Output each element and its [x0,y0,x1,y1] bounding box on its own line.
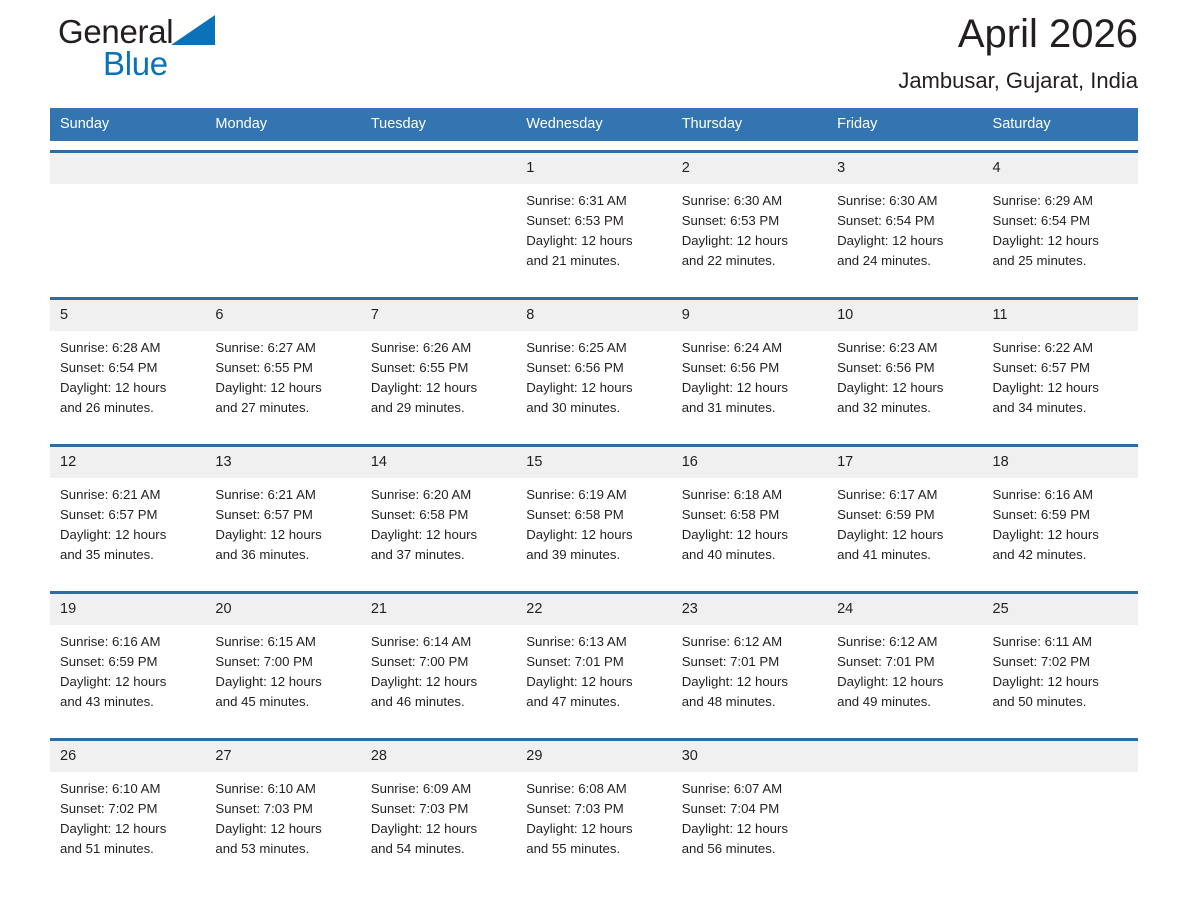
daylight-line: Daylight: 12 hours [60,672,197,692]
daylight-line-cont: and 45 minutes. [215,692,352,712]
daylight-line-cont: and 56 minutes. [682,839,819,859]
day-cell[interactable]: Sunrise: 6:29 AM Sunset: 6:54 PM Dayligh… [983,184,1138,288]
day-cell[interactable]: Sunrise: 6:18 AM Sunset: 6:58 PM Dayligh… [672,478,827,582]
daylight-line-cont: and 34 minutes. [993,398,1130,418]
week-detail-band: Sunrise: 6:31 AM Sunset: 6:53 PM Dayligh… [50,184,1138,288]
daylight-line: Daylight: 12 hours [526,525,663,545]
day-number[interactable]: 8 [516,300,671,331]
logo-line-one: General [58,12,258,52]
day-number[interactable] [361,153,516,184]
daylight-line: Daylight: 12 hours [993,378,1130,398]
page-header: General Blue April 2026 Jambusar, Gujara… [50,0,1138,108]
daylight-line: Daylight: 12 hours [526,819,663,839]
daylight-line-cont: and 31 minutes. [682,398,819,418]
week-day-number-band: 5 6 7 8 9 10 11 [50,300,1138,331]
daylight-line-cont: and 46 minutes. [371,692,508,712]
day-number[interactable]: 2 [672,153,827,184]
day-cell[interactable]: Sunrise: 6:13 AM Sunset: 7:01 PM Dayligh… [516,625,671,729]
daylight-line: Daylight: 12 hours [682,819,819,839]
day-number[interactable] [50,153,205,184]
sunrise-line: Sunrise: 6:11 AM [993,632,1130,652]
daylight-line: Daylight: 12 hours [682,672,819,692]
day-cell[interactable]: Sunrise: 6:24 AM Sunset: 6:56 PM Dayligh… [672,331,827,435]
daylight-line-cont: and 43 minutes. [60,692,197,712]
sunset-line: Sunset: 7:01 PM [837,652,974,672]
week-day-number-band: 19 20 21 22 23 24 25 [50,594,1138,625]
sunset-line: Sunset: 6:53 PM [526,211,663,231]
day-number[interactable]: 21 [361,594,516,625]
day-number[interactable]: 25 [983,594,1138,625]
daylight-line-cont: and 29 minutes. [371,398,508,418]
day-cell[interactable] [50,184,205,288]
sunrise-line: Sunrise: 6:21 AM [215,485,352,505]
location-subtitle: Jambusar, Gujarat, India [898,66,1138,96]
sunset-line: Sunset: 7:01 PM [526,652,663,672]
day-number[interactable]: 17 [827,447,982,478]
daylight-line-cont: and 25 minutes. [993,251,1130,271]
sunrise-line: Sunrise: 6:07 AM [682,779,819,799]
daylight-line: Daylight: 12 hours [993,231,1130,251]
day-number[interactable]: 18 [983,447,1138,478]
general-blue-logo[interactable]: General Blue [58,12,258,92]
daylight-line: Daylight: 12 hours [371,378,508,398]
sunrise-line: Sunrise: 6:08 AM [526,779,663,799]
sunrise-line: Sunrise: 6:12 AM [837,632,974,652]
week-detail-band: Sunrise: 6:16 AM Sunset: 6:59 PM Dayligh… [50,625,1138,729]
daylight-line-cont: and 37 minutes. [371,545,508,565]
day-number[interactable]: 5 [50,300,205,331]
day-number[interactable]: 26 [50,741,205,772]
sunrise-line: Sunrise: 6:14 AM [371,632,508,652]
day-cell[interactable]: Sunrise: 6:21 AM Sunset: 6:57 PM Dayligh… [50,478,205,582]
week-day-number-band: 26 27 28 29 30 [50,741,1138,772]
day-number[interactable] [983,741,1138,772]
calendar-week-row: 26 27 28 29 30 Sunrise: 6:10 AM Sunset: … [50,738,1138,872]
daylight-line: Daylight: 12 hours [682,378,819,398]
daylight-line: Daylight: 12 hours [837,378,974,398]
sunset-line: Sunset: 6:59 PM [60,652,197,672]
daylight-line: Daylight: 12 hours [993,672,1130,692]
sunset-line: Sunset: 6:53 PM [682,211,819,231]
day-number[interactable]: 23 [672,594,827,625]
weekday-header-friday: Friday [827,108,982,141]
daylight-line: Daylight: 12 hours [837,231,974,251]
daylight-line: Daylight: 12 hours [526,672,663,692]
sunset-line: Sunset: 6:58 PM [526,505,663,525]
daylight-line: Daylight: 12 hours [371,525,508,545]
weekday-header-wednesday: Wednesday [516,108,671,141]
week-day-number-band: 12 13 14 15 16 17 18 [50,447,1138,478]
day-number[interactable]: 4 [983,153,1138,184]
daylight-line-cont: and 24 minutes. [837,251,974,271]
day-cell[interactable]: Sunrise: 6:28 AM Sunset: 6:54 PM Dayligh… [50,331,205,435]
sunrise-line: Sunrise: 6:31 AM [526,191,663,211]
sunset-line: Sunset: 6:56 PM [526,358,663,378]
daylight-line-cont: and 32 minutes. [837,398,974,418]
sunset-line: Sunset: 6:58 PM [371,505,508,525]
daylight-line: Daylight: 12 hours [993,525,1130,545]
day-cell[interactable]: Sunrise: 6:23 AM Sunset: 6:56 PM Dayligh… [827,331,982,435]
daylight-line: Daylight: 12 hours [215,672,352,692]
sunrise-line: Sunrise: 6:27 AM [215,338,352,358]
sunset-line: Sunset: 7:00 PM [371,652,508,672]
day-number[interactable]: 29 [516,741,671,772]
day-cell[interactable]: Sunrise: 6:15 AM Sunset: 7:00 PM Dayligh… [205,625,360,729]
daylight-line-cont: and 26 minutes. [60,398,197,418]
week-detail-band: Sunrise: 6:10 AM Sunset: 7:02 PM Dayligh… [50,772,1138,872]
week-detail-band: Sunrise: 6:21 AM Sunset: 6:57 PM Dayligh… [50,478,1138,582]
sunrise-line: Sunrise: 6:24 AM [682,338,819,358]
day-number[interactable]: 16 [672,447,827,478]
day-cell[interactable]: Sunrise: 6:10 AM Sunset: 7:02 PM Dayligh… [50,772,205,872]
daylight-line: Daylight: 12 hours [60,525,197,545]
daylight-line: Daylight: 12 hours [215,525,352,545]
sunset-line: Sunset: 7:01 PM [682,652,819,672]
daylight-line-cont: and 21 minutes. [526,251,663,271]
sunset-line: Sunset: 6:57 PM [993,358,1130,378]
daylight-line: Daylight: 12 hours [60,819,197,839]
sunset-line: Sunset: 7:02 PM [60,799,197,819]
sunrise-line: Sunrise: 6:22 AM [993,338,1130,358]
day-cell[interactable] [361,184,516,288]
sunrise-line: Sunrise: 6:26 AM [371,338,508,358]
daylight-line-cont: and 48 minutes. [682,692,819,712]
sunset-line: Sunset: 7:02 PM [993,652,1130,672]
sunrise-line: Sunrise: 6:09 AM [371,779,508,799]
day-number[interactable]: 3 [827,153,982,184]
calendar-week-row: 5 6 7 8 9 10 11 Sunrise: 6:28 AM Sunset:… [50,297,1138,435]
sunset-line: Sunset: 7:03 PM [215,799,352,819]
day-cell[interactable]: Sunrise: 6:31 AM Sunset: 6:53 PM Dayligh… [516,184,671,288]
daylight-line-cont: and 47 minutes. [526,692,663,712]
day-number[interactable] [827,741,982,772]
week-detail-band: Sunrise: 6:28 AM Sunset: 6:54 PM Dayligh… [50,331,1138,435]
daylight-line: Daylight: 12 hours [371,819,508,839]
day-number[interactable]: 27 [205,741,360,772]
day-cell[interactable]: Sunrise: 6:12 AM Sunset: 7:01 PM Dayligh… [827,625,982,729]
sunrise-line: Sunrise: 6:23 AM [837,338,974,358]
page-title: April 2026 [898,8,1138,60]
day-cell[interactable]: Sunrise: 6:20 AM Sunset: 6:58 PM Dayligh… [361,478,516,582]
sunset-line: Sunset: 6:57 PM [215,505,352,525]
sunset-line: Sunset: 6:57 PM [60,505,197,525]
sunrise-line: Sunrise: 6:16 AM [993,485,1130,505]
sunset-line: Sunset: 6:59 PM [993,505,1130,525]
calendar-week-row: 12 13 14 15 16 17 18 Sunrise: 6:21 AM Su… [50,444,1138,582]
day-cell[interactable]: Sunrise: 6:22 AM Sunset: 6:57 PM Dayligh… [983,331,1138,435]
sunrise-line: Sunrise: 6:29 AM [993,191,1130,211]
daylight-line-cont: and 22 minutes. [682,251,819,271]
day-cell[interactable] [827,772,982,872]
day-number[interactable]: 12 [50,447,205,478]
logo-text-general: General [58,13,173,50]
sunrise-line: Sunrise: 6:15 AM [215,632,352,652]
day-number[interactable]: 6 [205,300,360,331]
day-number[interactable]: 11 [983,300,1138,331]
sunrise-line: Sunrise: 6:20 AM [371,485,508,505]
day-number[interactable]: 1 [516,153,671,184]
daylight-line: Daylight: 12 hours [215,819,352,839]
sunset-line: Sunset: 6:58 PM [682,505,819,525]
sunrise-line: Sunrise: 6:21 AM [60,485,197,505]
daylight-line-cont: and 27 minutes. [215,398,352,418]
weekday-header-saturday: Saturday [983,108,1138,141]
sunset-line: Sunset: 7:03 PM [371,799,508,819]
sunrise-line: Sunrise: 6:25 AM [526,338,663,358]
day-cell[interactable]: Sunrise: 6:19 AM Sunset: 6:58 PM Dayligh… [516,478,671,582]
daylight-line-cont: and 39 minutes. [526,545,663,565]
daylight-line: Daylight: 12 hours [837,672,974,692]
day-cell[interactable]: Sunrise: 6:07 AM Sunset: 7:04 PM Dayligh… [672,772,827,872]
sunset-line: Sunset: 6:55 PM [215,358,352,378]
sunset-line: Sunset: 7:04 PM [682,799,819,819]
weekday-header-tuesday: Tuesday [361,108,516,141]
day-number[interactable]: 22 [516,594,671,625]
day-cell[interactable]: Sunrise: 6:10 AM Sunset: 7:03 PM Dayligh… [205,772,360,872]
daylight-line: Daylight: 12 hours [371,672,508,692]
day-cell[interactable]: Sunrise: 6:30 AM Sunset: 6:53 PM Dayligh… [672,184,827,288]
daylight-line-cont: and 51 minutes. [60,839,197,859]
day-cell[interactable] [205,184,360,288]
day-cell[interactable]: Sunrise: 6:26 AM Sunset: 6:55 PM Dayligh… [361,331,516,435]
sunset-line: Sunset: 6:54 PM [837,211,974,231]
daylight-line: Daylight: 12 hours [526,231,663,251]
day-number[interactable]: 19 [50,594,205,625]
daylight-line: Daylight: 12 hours [215,378,352,398]
day-cell[interactable]: Sunrise: 6:16 AM Sunset: 6:59 PM Dayligh… [983,478,1138,582]
day-cell[interactable]: Sunrise: 6:09 AM Sunset: 7:03 PM Dayligh… [361,772,516,872]
sunrise-line: Sunrise: 6:16 AM [60,632,197,652]
week-day-number-band: 1 2 3 4 [50,153,1138,184]
day-cell[interactable]: Sunrise: 6:17 AM Sunset: 6:59 PM Dayligh… [827,478,982,582]
sunrise-line: Sunrise: 6:30 AM [837,191,974,211]
calendar-week-row: 1 2 3 4 [50,150,1138,288]
sunrise-line: Sunrise: 6:18 AM [682,485,819,505]
day-number[interactable]: 13 [205,447,360,478]
daylight-line-cont: and 55 minutes. [526,839,663,859]
weekday-header-sunday: Sunday [50,108,205,141]
day-number[interactable]: 9 [672,300,827,331]
daylight-line: Daylight: 12 hours [60,378,197,398]
weekday-header-row: Sunday Monday Tuesday Wednesday Thursday… [50,108,1138,141]
day-cell[interactable]: Sunrise: 6:27 AM Sunset: 6:55 PM Dayligh… [205,331,360,435]
sunset-line: Sunset: 6:54 PM [60,358,197,378]
title-block: April 2026 Jambusar, Gujarat, India [898,0,1138,96]
sunset-line: Sunset: 6:55 PM [371,358,508,378]
daylight-line-cont: and 42 minutes. [993,545,1130,565]
sunrise-line: Sunrise: 6:12 AM [682,632,819,652]
daylight-line-cont: and 36 minutes. [215,545,352,565]
sunrise-line: Sunrise: 6:13 AM [526,632,663,652]
daylight-line-cont: and 30 minutes. [526,398,663,418]
day-cell[interactable]: Sunrise: 6:14 AM Sunset: 7:00 PM Dayligh… [361,625,516,729]
sunrise-line: Sunrise: 6:10 AM [215,779,352,799]
sunset-line: Sunset: 6:59 PM [837,505,974,525]
day-number[interactable]: 30 [672,741,827,772]
daylight-line-cont: and 54 minutes. [371,839,508,859]
day-number[interactable]: 24 [827,594,982,625]
day-number[interactable]: 7 [361,300,516,331]
day-cell[interactable]: Sunrise: 6:21 AM Sunset: 6:57 PM Dayligh… [205,478,360,582]
daylight-line: Daylight: 12 hours [682,525,819,545]
calendar-grid: Sunday Monday Tuesday Wednesday Thursday… [50,108,1138,872]
sunrise-line: Sunrise: 6:28 AM [60,338,197,358]
day-cell[interactable]: Sunrise: 6:11 AM Sunset: 7:02 PM Dayligh… [983,625,1138,729]
day-cell[interactable]: Sunrise: 6:30 AM Sunset: 6:54 PM Dayligh… [827,184,982,288]
daylight-line: Daylight: 12 hours [837,525,974,545]
sunrise-line: Sunrise: 6:19 AM [526,485,663,505]
daylight-line-cont: and 49 minutes. [837,692,974,712]
calendar-page: General Blue April 2026 Jambusar, Gujara… [0,0,1188,918]
daylight-line-cont: and 50 minutes. [993,692,1130,712]
sunset-line: Sunset: 6:56 PM [837,358,974,378]
daylight-line-cont: and 40 minutes. [682,545,819,565]
day-cell[interactable]: Sunrise: 6:16 AM Sunset: 6:59 PM Dayligh… [50,625,205,729]
calendar-week-row: 19 20 21 22 23 24 25 Sunrise: 6:16 AM Su… [50,591,1138,729]
sunset-line: Sunset: 7:03 PM [526,799,663,819]
day-cell[interactable]: Sunrise: 6:25 AM Sunset: 6:56 PM Dayligh… [516,331,671,435]
day-number[interactable]: 14 [361,447,516,478]
day-cell[interactable]: Sunrise: 6:12 AM Sunset: 7:01 PM Dayligh… [672,625,827,729]
daylight-line-cont: and 53 minutes. [215,839,352,859]
logo-triangle-icon [171,15,215,61]
weekday-header-monday: Monday [205,108,360,141]
weekday-header-thursday: Thursday [672,108,827,141]
daylight-line-cont: and 41 minutes. [837,545,974,565]
sunrise-line: Sunrise: 6:10 AM [60,779,197,799]
daylight-line: Daylight: 12 hours [682,231,819,251]
sunset-line: Sunset: 7:00 PM [215,652,352,672]
sunrise-line: Sunrise: 6:30 AM [682,191,819,211]
day-number[interactable]: 28 [361,741,516,772]
day-cell[interactable]: Sunrise: 6:08 AM Sunset: 7:03 PM Dayligh… [516,772,671,872]
sunset-line: Sunset: 6:54 PM [993,211,1130,231]
day-cell[interactable] [983,772,1138,872]
day-number[interactable] [205,153,360,184]
day-number[interactable]: 10 [827,300,982,331]
day-number[interactable]: 20 [205,594,360,625]
sunset-line: Sunset: 6:56 PM [682,358,819,378]
sunrise-line: Sunrise: 6:17 AM [837,485,974,505]
day-number[interactable]: 15 [516,447,671,478]
daylight-line-cont: and 35 minutes. [60,545,197,565]
daylight-line: Daylight: 12 hours [526,378,663,398]
